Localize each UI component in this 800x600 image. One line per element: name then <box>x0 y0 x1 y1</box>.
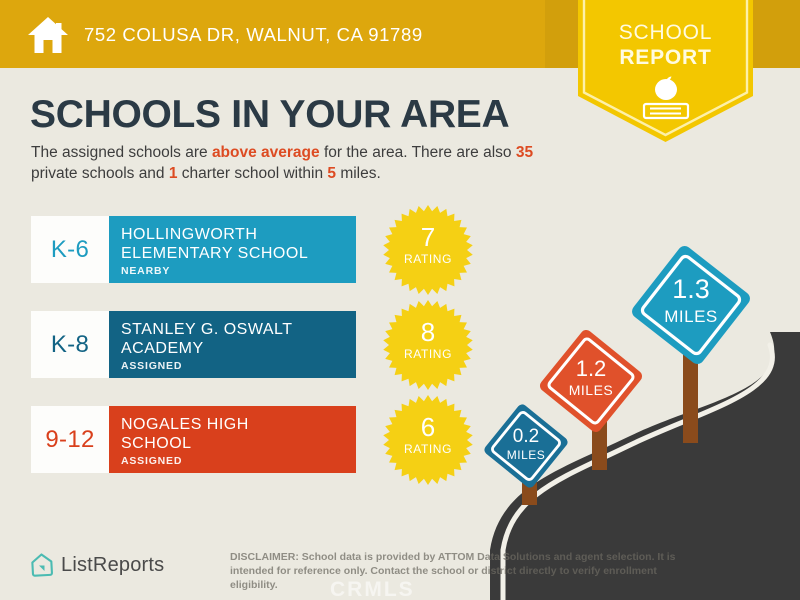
school-name-line-2: SCHOOL <box>121 434 356 453</box>
rating-label: RATING <box>382 252 474 266</box>
subtitle-highlight-radius: 5 <box>327 165 336 182</box>
school-status-label: ASSIGNED <box>121 360 356 372</box>
distance-value: 0.2 <box>478 426 574 448</box>
distance-unit: MILES <box>478 448 574 462</box>
page-title: SCHOOLS IN YOUR AREA <box>30 93 509 137</box>
property-address: 752 COLUSA DR, WALNUT, CA 91789 <box>84 24 423 46</box>
distance-sign: 0.2 MILES <box>478 398 574 494</box>
school-status-label: NEARBY <box>121 265 356 277</box>
listreports-logo[interactable]: ListReports <box>30 552 164 578</box>
distance-value: 1.3 <box>622 274 760 305</box>
school-report-badge: SCHOOL REPORT <box>578 0 753 142</box>
subtitle-highlight-private-count: 35 <box>516 144 533 161</box>
subtitle-highlight-rating: above average <box>212 144 320 161</box>
apple-on-book-icon <box>634 74 698 122</box>
road-illustration: 1.3 MILES 1.2 MILES 0.2 MILES <box>470 250 800 600</box>
grade-range-label: 9-12 <box>45 426 94 454</box>
rating-label: RATING <box>382 442 474 456</box>
listreports-logo-text: ListReports <box>61 554 164 577</box>
school-report-badge-text: SCHOOL REPORT <box>578 20 753 70</box>
rating-label: RATING <box>382 347 474 361</box>
distance-value: 1.2 <box>532 356 650 382</box>
school-name-line-2: ELEMENTARY SCHOOL <box>121 244 356 263</box>
subtitle: The assigned schools are above average f… <box>31 142 571 184</box>
grade-range-box: K-8 <box>31 311 109 378</box>
school-name-bar: NOGALES HIGH SCHOOL ASSIGNED <box>109 406 356 473</box>
school-row[interactable]: 9-12 NOGALES HIGH SCHOOL ASSIGNED 6 RATI… <box>31 406 356 473</box>
grade-range-label: K-8 <box>51 331 89 359</box>
crmls-watermark: CRMLS <box>330 578 415 600</box>
rating-value: 8 <box>382 319 474 345</box>
rating-value: 7 <box>382 224 474 250</box>
subtitle-part-1: The assigned schools are <box>31 144 212 161</box>
subtitle-part-3: private schools and <box>31 165 169 182</box>
school-name-bar: HOLLINGWORTH ELEMENTARY SCHOOL NEARBY <box>109 216 356 283</box>
subtitle-part-5: miles. <box>336 165 381 182</box>
school-status-label: ASSIGNED <box>121 455 356 467</box>
grade-range-box: K-6 <box>31 216 109 283</box>
listreports-house-icon <box>30 552 54 578</box>
school-row[interactable]: K-8 STANLEY G. OSWALT ACADEMY ASSIGNED 8… <box>31 311 356 378</box>
school-name-line-1: NOGALES HIGH <box>121 415 356 434</box>
subtitle-part-2: for the area. There are also <box>320 144 516 161</box>
rating-badge: 7 RATING <box>382 204 474 296</box>
school-name-line-1: STANLEY G. OSWALT <box>121 320 356 339</box>
grade-range-box: 9-12 <box>31 406 109 473</box>
disclaimer-text: DISCLAIMER: School data is provided by A… <box>230 550 700 592</box>
badge-line-1: SCHOOL <box>578 20 753 45</box>
school-row[interactable]: K-6 HOLLINGWORTH ELEMENTARY SCHOOL NEARB… <box>31 216 356 283</box>
home-icon <box>26 14 70 56</box>
rating-badge: 6 RATING <box>382 394 474 486</box>
subtitle-part-4: charter school within <box>177 165 327 182</box>
infographic-canvas: 752 COLUSA DR, WALNUT, CA 91789 SCHOOL R… <box>0 0 800 600</box>
school-name-line-2: ACADEMY <box>121 339 356 358</box>
rating-value: 6 <box>382 414 474 440</box>
school-name-line-1: HOLLINGWORTH <box>121 225 356 244</box>
school-name-bar: STANLEY G. OSWALT ACADEMY ASSIGNED <box>109 311 356 378</box>
distance-unit: MILES <box>532 382 650 398</box>
grade-range-label: K-6 <box>51 236 89 264</box>
badge-line-2: REPORT <box>578 45 753 70</box>
rating-badge: 8 RATING <box>382 299 474 391</box>
